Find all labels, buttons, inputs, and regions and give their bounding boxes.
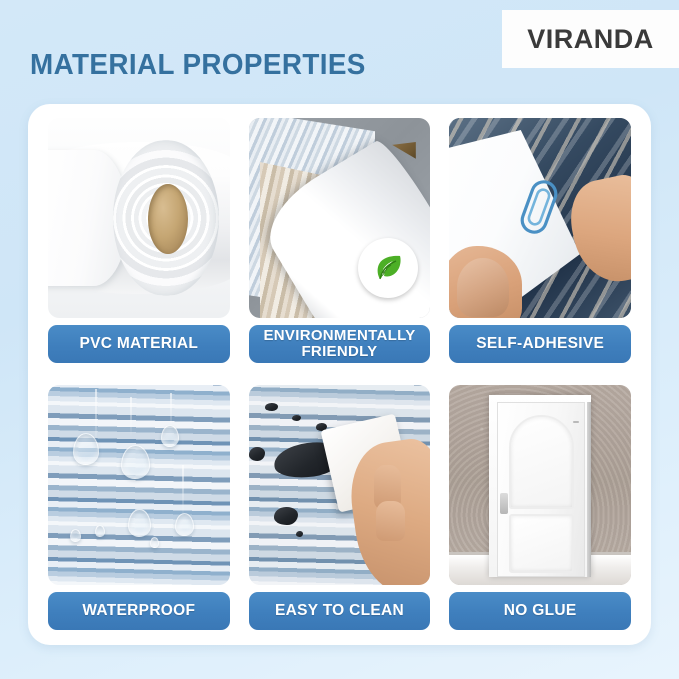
features-card: PVC MATERIAL bbox=[28, 104, 651, 645]
droplet-trail bbox=[130, 397, 132, 437]
feature-label-environmentally-friendly: ENVIRONMENTALLY FRIENDLY bbox=[249, 325, 431, 363]
droplet-trail bbox=[170, 393, 172, 429]
feature-label-pvc-material: PVC MATERIAL bbox=[48, 325, 230, 363]
environmentally-friendly-image bbox=[249, 118, 431, 318]
feature-cell-environmentally-friendly: ENVIRONMENTALLY FRIENDLY bbox=[249, 118, 431, 363]
brand-logo-text: VIRANDA bbox=[527, 24, 654, 55]
waterproof-image bbox=[48, 385, 230, 585]
water-droplet bbox=[150, 537, 159, 548]
leaf-icon bbox=[369, 249, 407, 287]
feature-cell-waterproof: WATERPROOF bbox=[48, 385, 230, 630]
water-droplet bbox=[175, 513, 194, 536]
droplet-trail bbox=[182, 465, 184, 517]
ink-stain bbox=[274, 507, 298, 525]
door-hinge bbox=[573, 421, 579, 424]
water-droplet bbox=[70, 529, 81, 542]
droplet-trail bbox=[95, 389, 97, 445]
page-title: MATERIAL PROPERTIES bbox=[30, 49, 366, 82]
infographic-page: VIRANDA MATERIAL PROPERTIES PVC MATERIAL bbox=[0, 0, 679, 679]
feature-cell-self-adhesive: SELF-ADHESIVE bbox=[449, 118, 631, 363]
finger-shape bbox=[376, 501, 405, 541]
roll-core-shape bbox=[148, 184, 188, 254]
water-droplet bbox=[95, 525, 105, 537]
wood-grain-texture bbox=[48, 385, 230, 585]
feature-cell-pvc-material: PVC MATERIAL bbox=[48, 118, 230, 363]
door-panel-bottom bbox=[509, 514, 574, 573]
ink-stain bbox=[265, 403, 278, 411]
no-glue-image bbox=[449, 385, 631, 585]
door-panel-top bbox=[509, 415, 574, 509]
easy-to-clean-image bbox=[249, 385, 431, 585]
leaf-badge bbox=[358, 238, 418, 298]
pvc-material-image bbox=[48, 118, 230, 318]
feature-label-waterproof: WATERPROOF bbox=[48, 592, 230, 630]
feature-label-self-adhesive: SELF-ADHESIVE bbox=[449, 325, 631, 363]
door-leaf bbox=[497, 402, 585, 577]
label-line-1: ENVIRONMENTALLY bbox=[263, 328, 415, 344]
brand-logo: VIRANDA bbox=[502, 10, 679, 68]
features-grid: PVC MATERIAL bbox=[48, 118, 631, 630]
feature-label-no-glue: NO GLUE bbox=[449, 592, 631, 630]
water-droplet bbox=[121, 445, 150, 479]
label-line-2: FRIENDLY bbox=[263, 344, 415, 360]
ink-stain bbox=[249, 447, 265, 461]
door-frame-shadow bbox=[587, 402, 591, 577]
water-droplet bbox=[128, 509, 151, 537]
feature-cell-no-glue: NO GLUE bbox=[449, 385, 631, 630]
feature-label-easy-to-clean: EASY TO CLEAN bbox=[249, 592, 431, 630]
feature-cell-easy-to-clean: EASY TO CLEAN bbox=[249, 385, 431, 630]
water-droplet bbox=[161, 425, 179, 447]
door-frame bbox=[489, 395, 591, 577]
door-handle bbox=[500, 493, 508, 514]
self-adhesive-image bbox=[449, 118, 631, 318]
